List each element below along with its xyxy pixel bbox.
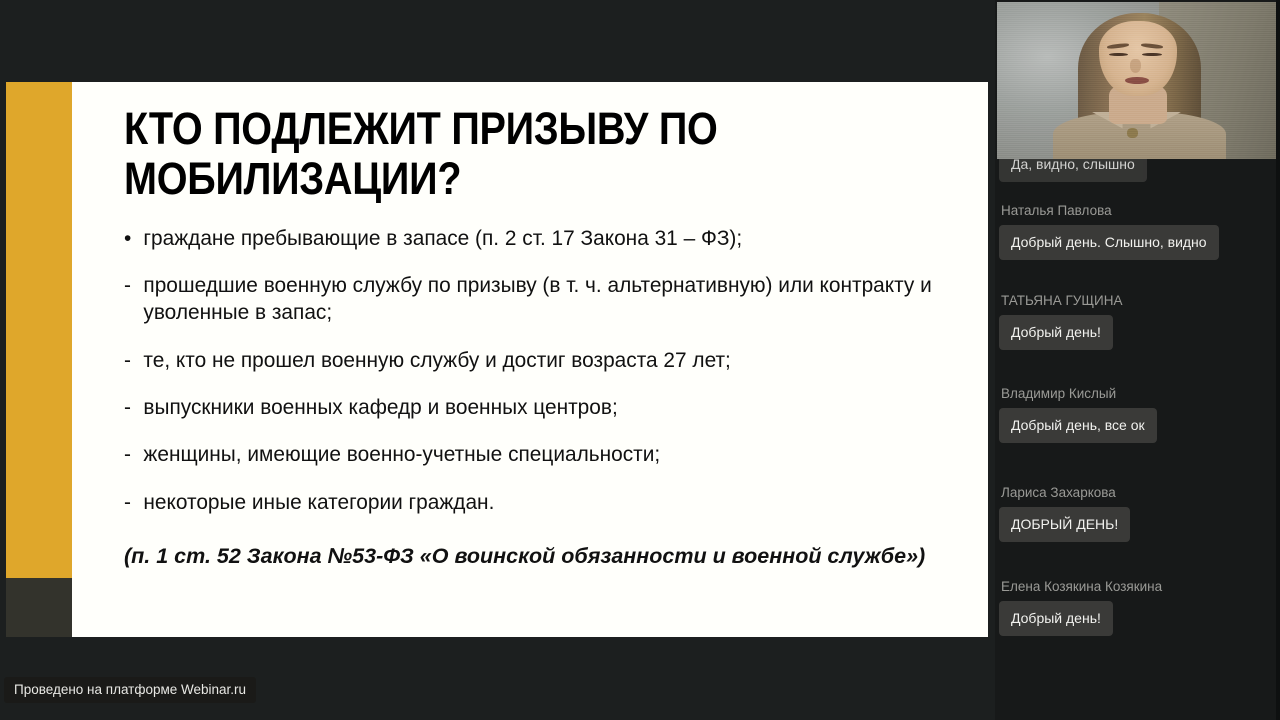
slide: КТО ПОДЛЕЖИТ ПРИЗЫВУ ПО МОБИЛИЗАЦИИ? •гр… [6, 82, 988, 637]
slide-bullet-list: •граждане пребывающие в запасе (п. 2 ст.… [124, 225, 966, 516]
bullet-marker-icon: - [124, 441, 131, 468]
bullet-marker-icon: - [124, 394, 131, 421]
slide-accent-foot [6, 578, 72, 637]
bullet-text: женщины, имеющие военно-учетные специаль… [143, 442, 660, 466]
chat-author-name: ТАТЬЯНА ГУЩИНА [995, 293, 1280, 308]
video-noise-overlay [997, 2, 1276, 159]
bullet-text: выпускники военных кафедр и военных цент… [143, 395, 617, 419]
chat-author-name: Лариса Захаркова [995, 485, 1280, 500]
slide-title: КТО ПОДЛЕЖИТ ПРИЗЫВУ ПО МОБИЛИЗАЦИИ? [124, 82, 865, 205]
slide-bullet-item: •граждане пребывающие в запасе (п. 2 ст.… [124, 225, 941, 252]
slide-bullet-item: -женщины, имеющие военно-учетные специал… [124, 441, 941, 468]
slide-bullet-item: -выпускники военных кафедр и военных цен… [124, 394, 941, 421]
chat-message: ТАТЬЯНА ГУЩИНАДобрый день! [995, 293, 1280, 350]
bullet-text: граждане пребывающие в запасе (п. 2 ст. … [143, 226, 742, 250]
presenter-video-thumbnail[interactable] [997, 2, 1276, 159]
bullet-marker-icon: • [124, 225, 131, 252]
slide-citation: (п. 1 ст. 52 Закона №53-ФЗ «О воинской о… [124, 542, 964, 571]
chat-bubble: Добрый день! [999, 315, 1113, 350]
bullet-text: те, кто не прошел военную службу и дости… [143, 348, 730, 372]
chat-author-name: Елена Козякина Козякина [995, 579, 1280, 594]
chat-message: Лариса ЗахарковаДОБРЫЙ ДЕНЬ! [995, 485, 1280, 542]
bullet-marker-icon: - [124, 489, 131, 516]
chat-author-name: Владимир Кислый [995, 386, 1280, 401]
right-rail: Да, видно, слышно Наталья ПавловаДобрый … [995, 0, 1280, 720]
slide-content: КТО ПОДЛЕЖИТ ПРИЗЫВУ ПО МОБИЛИЗАЦИИ? •гр… [124, 82, 966, 637]
platform-watermark: Проведено на платформе Webinar.ru [4, 677, 256, 703]
chat-message: Наталья ПавловаДобрый день. Слышно, видн… [995, 203, 1280, 260]
chat-scrollbar[interactable] [1276, 0, 1280, 720]
bullet-marker-icon: - [124, 272, 131, 299]
chat-bubble: Добрый день. Слышно, видно [999, 225, 1219, 260]
chat-message: Владимир КислыйДобрый день, все ок [995, 386, 1280, 443]
chat-bubble: ДОБРЫЙ ДЕНЬ! [999, 507, 1130, 542]
slide-bullet-item: -те, кто не прошел военную службу и дост… [124, 347, 941, 374]
bullet-text: некоторые иные категории граждан. [143, 490, 494, 514]
presentation-stage: КТО ПОДЛЕЖИТ ПРИЗЫВУ ПО МОБИЛИЗАЦИИ? •гр… [0, 0, 995, 720]
chat-bubble: Добрый день, все ок [999, 408, 1157, 443]
bullet-marker-icon: - [124, 347, 131, 374]
chat-bubble: Добрый день! [999, 601, 1113, 636]
chat-author-name: Наталья Павлова [995, 203, 1280, 218]
bullet-text: прошедшие военную службу по призыву (в т… [143, 273, 931, 324]
slide-bullet-item: -некоторые иные категории граждан. [124, 489, 941, 516]
slide-bullet-item: -прошедшие военную службу по призыву (в … [124, 272, 941, 327]
slide-accent-bar [6, 82, 72, 578]
chat-message: Елена Козякина КозякинаДобрый день! [995, 579, 1280, 636]
